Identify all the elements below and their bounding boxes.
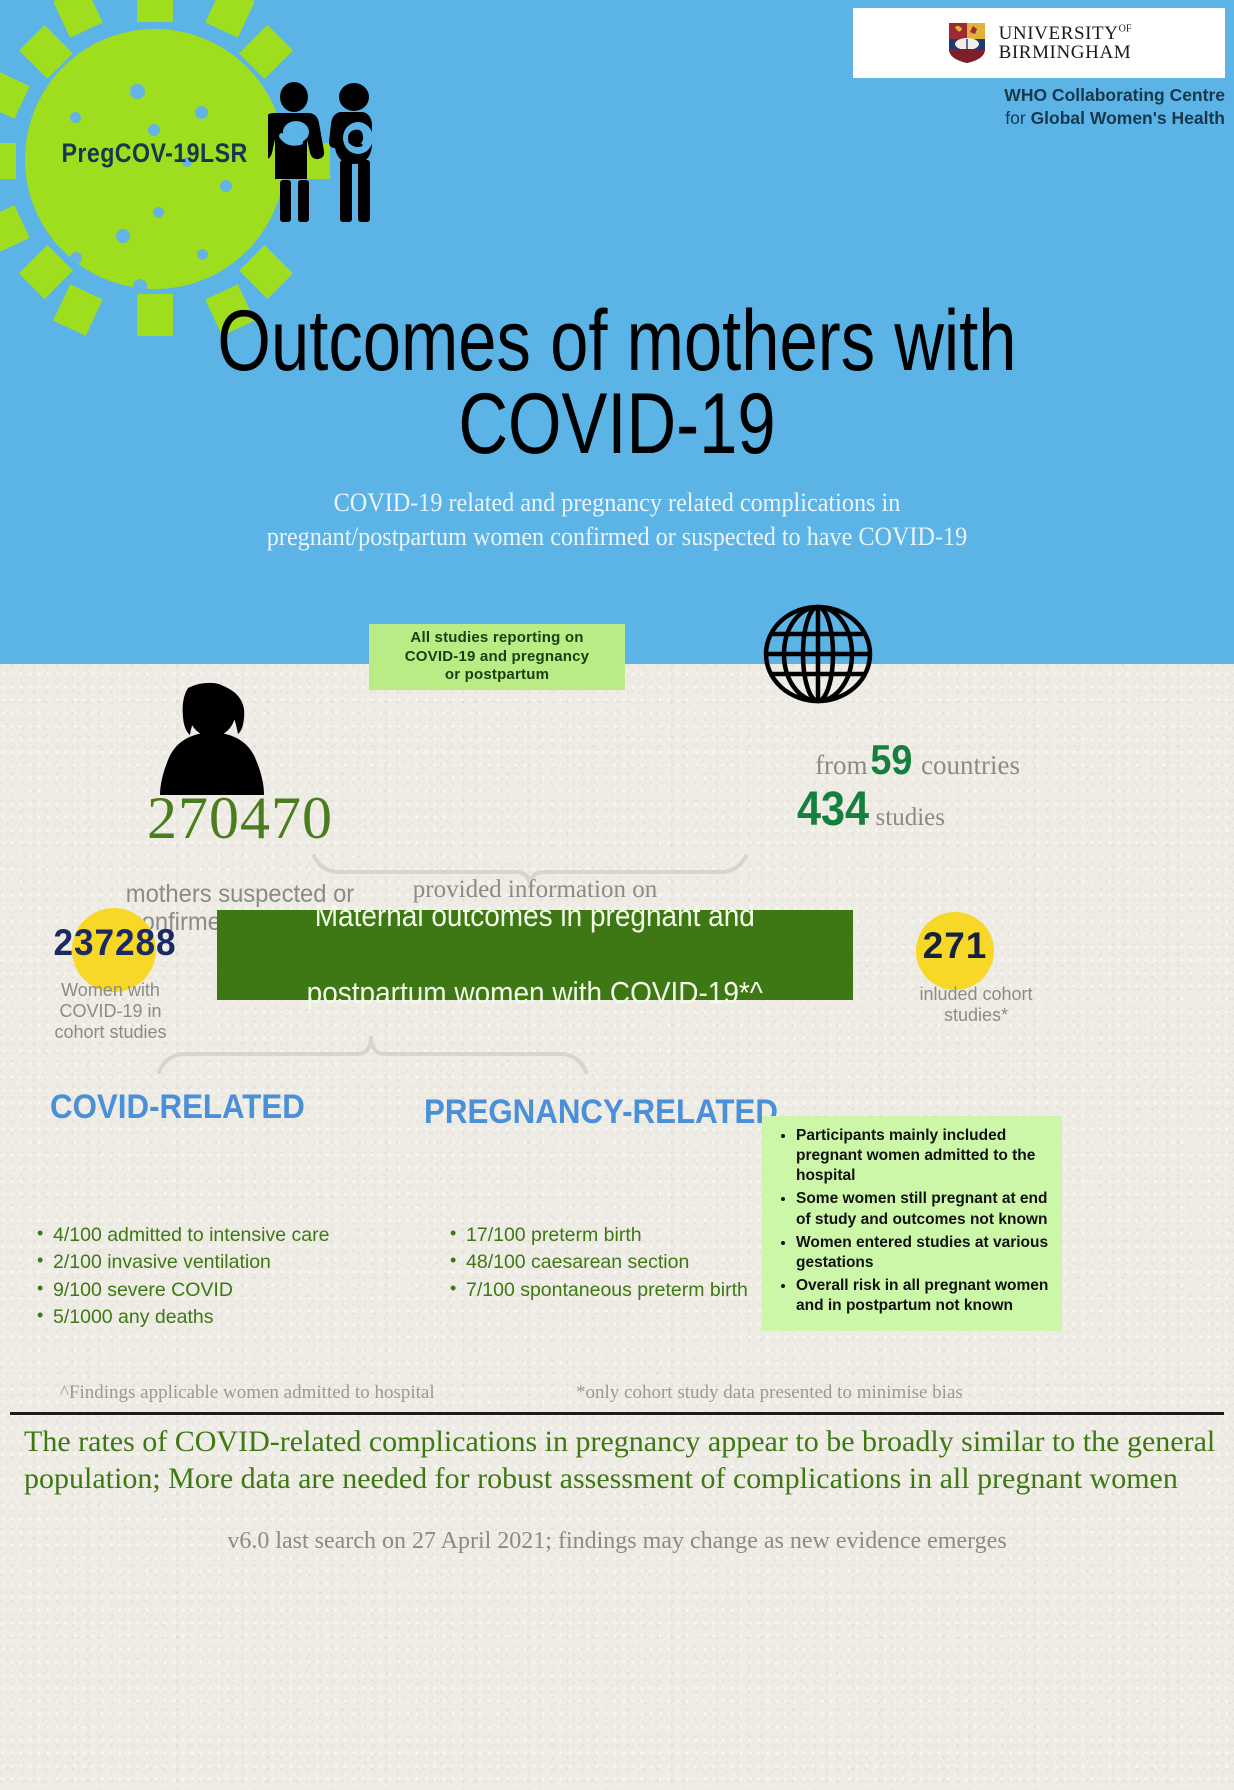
crest-icon — [947, 21, 987, 65]
list-item: 9/100 severe COVID — [35, 1277, 329, 1304]
who-line-1: WHO Collaborating Centre — [820, 84, 1225, 107]
page-subtitle: COVID-19 related and pregnancy related c… — [43, 486, 1191, 555]
university-of-birmingham-logo: UNIVERSITYOF BIRMINGHAM — [853, 8, 1225, 78]
list-item: 7/100 spontaneous preterm birth — [448, 1277, 748, 1304]
caveats-box: Participants mainly included pregnant wo… — [762, 1116, 1062, 1331]
cohort-studies-caption: inluded cohort studies* — [886, 984, 1066, 1026]
cohort-women-value: 237288 — [15, 922, 215, 964]
from-prefix: from — [815, 750, 867, 780]
mothers-count-value: 270470 — [60, 784, 420, 853]
title-line-1: Outcomes of mothers with — [123, 300, 1110, 383]
who-collaborating-centre-text: WHO Collaborating Centre for Global Wome… — [820, 84, 1225, 130]
scope-tag-line-1: All studies reporting on — [405, 629, 589, 648]
countries-stat: from59 countries — [600, 736, 1020, 784]
footnote-right: *only cohort study data presented to min… — [576, 1382, 963, 1404]
subtitle-line-2: pregnant/postpartum women confirmed or s… — [43, 520, 1191, 554]
studies-label: studies — [876, 804, 945, 831]
studies-stat: 434studies — [600, 782, 945, 837]
studies-count: 434 — [797, 782, 869, 837]
project-name-label: PregCOV-19LSR — [60, 138, 249, 169]
list-item: 2/100 invasive ventilation — [35, 1249, 329, 1276]
scope-tag: All studies reporting on COVID-19 and pr… — [369, 624, 625, 690]
divider — [10, 1412, 1224, 1415]
maternal-outcomes-banner: Maternal outcomes in pregnant and postpa… — [217, 910, 853, 1000]
covid-related-list: 4/100 admitted to intensive care 2/100 i… — [35, 1222, 329, 1331]
list-item: 4/100 admitted to intensive care — [35, 1222, 329, 1249]
countries-count: 59 — [870, 736, 912, 784]
version-text: v6.0 last search on 27 April 2021; findi… — [0, 1528, 1234, 1555]
list-item: 17/100 preterm birth — [448, 1222, 748, 1249]
pregnancy-related-list: 17/100 preterm birth 48/100 caesarean se… — [448, 1222, 748, 1304]
cohort-women-caption-line-2: COVID-19 in — [8, 1001, 213, 1022]
page-title: Outcomes of mothers with COVID-19 — [123, 300, 1110, 467]
logo-line-1: UNIVERSITY — [999, 23, 1119, 44]
scope-tag-line-2: COVID-19 and pregnancy — [405, 648, 589, 667]
brace-bottom-decoration — [155, 1032, 590, 1074]
infographic-page: PregCOV-19LSR — [0, 0, 1234, 1790]
pregnancy-related-heading: PREGNANCY-RELATED — [424, 1093, 778, 1132]
list-item: Women entered studies at various gestati… — [796, 1233, 1050, 1273]
cohort-studies-value: 271 — [880, 925, 1030, 967]
list-item: Overall risk in all pregnant women and i… — [796, 1276, 1050, 1316]
subtitle-line-1: COVID-19 related and pregnancy related c… — [43, 486, 1191, 520]
banner-line-2: postpartum women with COVID-19*^ — [307, 974, 763, 1012]
who-line-2-bold: Global Women's Health — [1031, 108, 1225, 128]
logo-of: OF — [1119, 24, 1132, 35]
title-line-2: COVID-19 — [123, 383, 1110, 466]
globe-icon — [762, 604, 874, 704]
cohort-studies-caption-line-1: inluded cohort — [886, 984, 1066, 1005]
cohort-women-caption-line-1: Women with — [8, 980, 213, 1001]
who-line-2-prefix: for — [1005, 108, 1030, 128]
list-item: Participants mainly included pregnant wo… — [796, 1126, 1050, 1186]
covid-related-heading: COVID-RELATED — [50, 1088, 305, 1127]
logo-line-2: BIRMINGHAM — [999, 43, 1132, 62]
mother-avatar-icon — [152, 680, 272, 795]
list-item: 48/100 caesarean section — [448, 1249, 748, 1276]
header-banner: PregCOV-19LSR — [0, 0, 1234, 664]
scope-tag-line-3: or postpartum — [405, 666, 589, 685]
cohort-studies-caption-line-2: studies* — [886, 1005, 1066, 1026]
footnote-left: ^Findings applicable women admitted to h… — [60, 1382, 435, 1404]
list-item: Some women still pregnant at end of stud… — [796, 1189, 1050, 1229]
countries-label: countries — [921, 750, 1020, 780]
banner-line-1: Maternal outcomes in pregnant and — [307, 897, 763, 935]
mother-and-pregnant-woman-icon — [268, 80, 388, 225]
list-item: 5/1000 any deaths — [35, 1304, 329, 1331]
conclusion-text: The rates of COVID-related complications… — [24, 1424, 1224, 1497]
